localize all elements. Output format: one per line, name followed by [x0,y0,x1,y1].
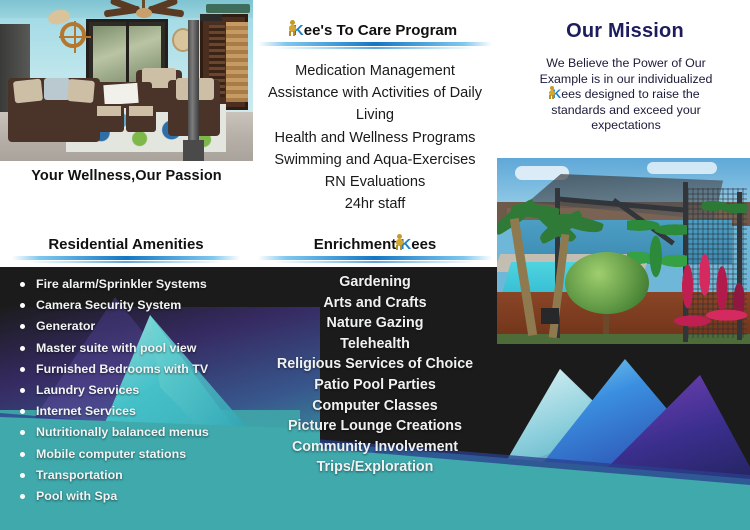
enrichment-kees-header: Enrichment Kees [258,236,492,263]
list-item: Religious Services of Choice [252,354,498,375]
patio-photo-caption: Your Wellness,Our Passion [0,168,253,184]
wall-sign [206,4,250,13]
mission-body: We Believe the Power of Our Example is i… [524,56,728,134]
kee-logo-icon: K [293,22,304,39]
mission-line-3: ees designed to raise the [561,87,699,101]
mission-line-1: We Believe the Power of Our [546,56,706,70]
care-item: Health and Wellness Programs [252,127,498,149]
ceiling-fan-icon [136,8,152,18]
mission-line-2: Example is in our individualized [540,72,713,86]
list-item: Laundry Services [18,380,250,401]
residential-amenities-list: Fire alarm/Sprinkler Systems Camera Secu… [18,274,250,507]
enrichment-list: Gardening Arts and Crafts Nature Gazing … [252,272,498,478]
ships-wheel-decor [60,22,86,48]
care-item: Assistance with Activities of Daily Livi… [252,82,498,126]
care-item: Swimming and Aqua-Exercises [252,149,498,171]
care-item: Medication Management [252,60,498,82]
list-item: Arts and Crafts [252,293,498,314]
kee-logo-icon: K [552,87,561,103]
list-item: Mobile computer stations [18,444,250,465]
enrichment-header-suffix: ees [411,236,436,253]
kees-to-care-header-text: ee's To Care Program [304,22,457,39]
list-item: Transportation [18,465,250,486]
mission-line-5: expectations [591,118,661,132]
care-item: 24hr staff [252,193,498,215]
bromeliad-plants [672,248,750,344]
list-item: Internet Services [18,401,250,422]
list-item: Nutritionally balanced menus [18,422,250,443]
kees-to-care-header: Kee's To Care Program [258,22,492,49]
list-item: Camera Security System [18,295,250,316]
care-item: RN Evaluations [252,171,498,193]
list-item: Furnished Bedrooms with TV [18,359,250,380]
list-item: Trips/Exploration [252,457,498,478]
patio-photo [0,0,253,161]
list-item: Patio Pool Parties [252,375,498,396]
residential-amenities-title: Residential Amenities [48,236,203,253]
list-item: Master suite with pool view [18,338,250,359]
residential-amenities-header: Residential Amenities [12,236,240,263]
pool-photo [497,158,750,344]
mission-line-4: standards and exceed your [551,103,700,117]
list-item: Fire alarm/Sprinkler Systems [18,274,250,295]
list-item: Generator [18,316,250,337]
mission-title: Our Mission [500,20,750,43]
care-program-list: Medication Management Assistance with Ac… [252,60,498,215]
list-item: Pool with Spa [18,486,250,507]
list-item: Computer Classes [252,396,498,417]
list-item: Telehealth [252,334,498,355]
list-item: Community Involvement [252,437,498,458]
kee-logo-icon: K [400,236,411,253]
brochure-page: Your Wellness,Our Passion Kee's To Care … [0,0,750,530]
list-item: Gardening [252,272,498,293]
enrichment-header-text: Enrichment [314,236,401,253]
list-item: Picture Lounge Creations [252,416,498,437]
list-item: Nature Gazing [252,313,498,334]
